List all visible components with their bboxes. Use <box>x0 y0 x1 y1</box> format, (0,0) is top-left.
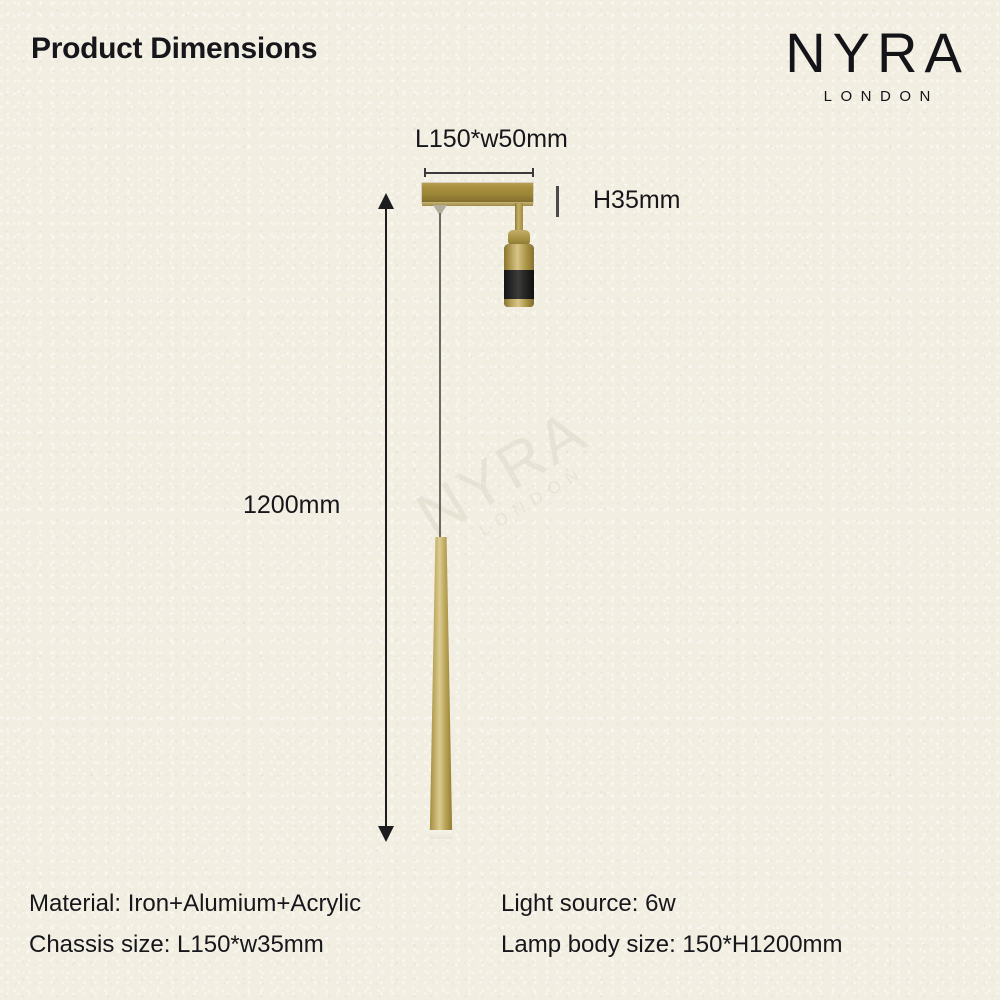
pendant-cone <box>425 537 457 834</box>
page-title: Product Dimensions <box>31 32 317 66</box>
spotlight-black-band <box>504 270 534 299</box>
spotlight-head <box>504 244 534 307</box>
spec-light-source: Light source: 6w <box>501 890 676 918</box>
product-dimensions-page: Product Dimensions NYRA LONDON NYRA LOND… <box>0 0 1000 1000</box>
spec-lamp-body-size: Lamp body size: 150*H1200mm <box>501 931 843 959</box>
label-plate-height: H35mm <box>593 186 681 215</box>
brand-logo-location: LONDON <box>766 88 988 105</box>
pendant-lamp <box>425 537 457 842</box>
spotlight-brass-top <box>504 244 534 270</box>
watermark-location: LONDON <box>438 439 627 563</box>
spec-material: Material: Iron+Alumium+Acrylic <box>29 890 361 918</box>
height-arrow-head-bottom <box>378 826 394 842</box>
width-dimension-cap-right <box>532 168 534 177</box>
brand-logo-name: NYRA <box>766 22 988 84</box>
spotlight-brass-ring <box>504 299 534 307</box>
height-dimension-line <box>385 198 387 839</box>
plate-height-tick <box>556 186 559 217</box>
pendant-acrylic-diffuser <box>429 830 454 839</box>
width-dimension-line <box>424 172 534 174</box>
ceiling-plate <box>422 183 533 203</box>
spec-chassis-size: Chassis size: L150*w35mm <box>29 931 324 959</box>
brand-logo: NYRA LONDON <box>766 22 988 114</box>
label-drop-height: 1200mm <box>243 491 340 520</box>
label-top-width: L150*w50mm <box>415 125 568 154</box>
suspension-wire <box>439 213 441 540</box>
